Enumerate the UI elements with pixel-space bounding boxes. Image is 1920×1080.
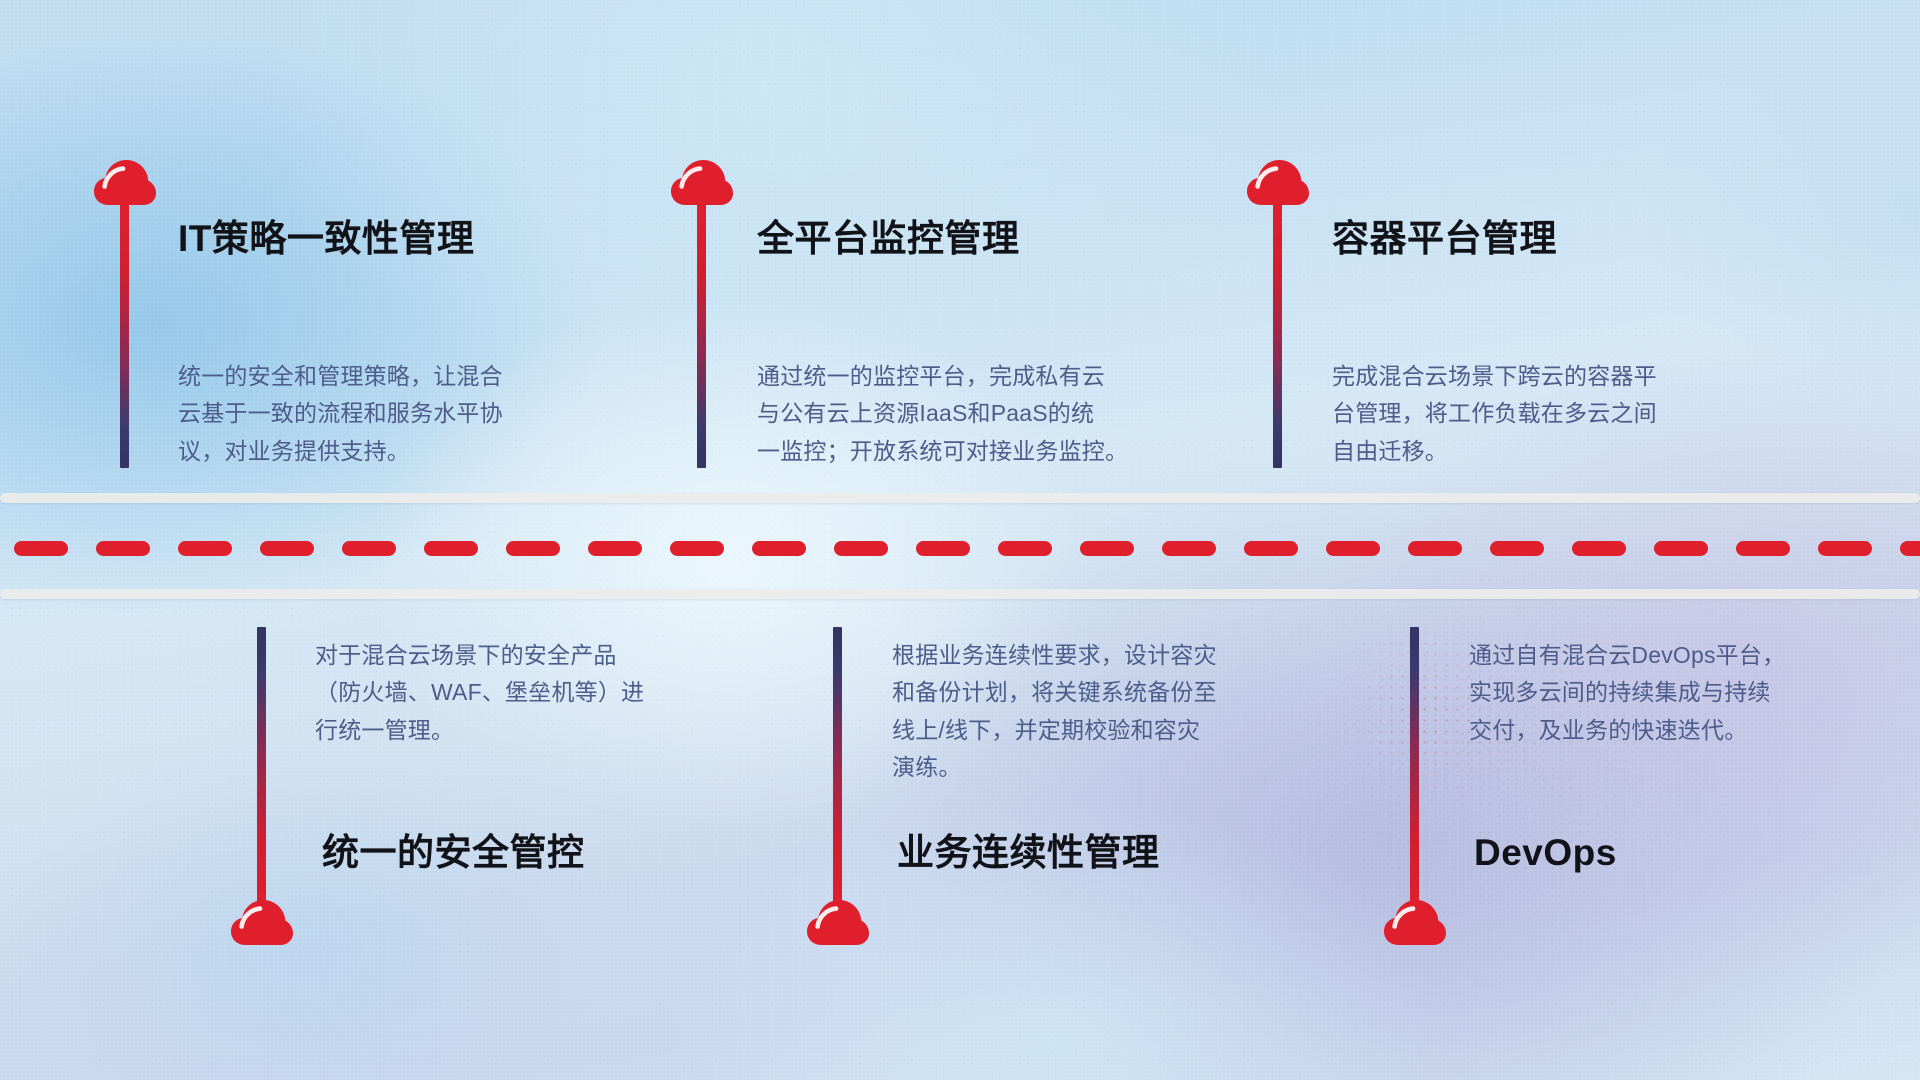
infographic-canvas: IT策略一致性管理 统一的安全和管理策略，让混合 云基于一致的流程和服务水平协 … (0, 0, 1920, 1080)
marker-stem (257, 627, 266, 907)
road-dash-segment (96, 541, 150, 556)
marker-stem (1273, 203, 1282, 468)
road-dash-segment (14, 541, 68, 556)
card-title: 业务连续性管理 (897, 834, 1160, 871)
marker-stem (1410, 627, 1419, 907)
road-dash-segment (1900, 541, 1920, 556)
road-dash-segment (1244, 541, 1298, 556)
road-dash-segment (1080, 541, 1134, 556)
cloud-icon (671, 160, 733, 206)
road-dash-segment (260, 541, 314, 556)
road-edge-line-bottom (0, 589, 1920, 599)
road-dash-segment (1162, 541, 1216, 556)
marker-stem (833, 627, 842, 907)
marker-stem (697, 203, 706, 468)
card-body: 根据业务连续性要求，设计容灾 和备份计划，将关键系统备份至 线上/线下，并定期校… (892, 637, 1342, 786)
road-dash-segment (588, 541, 642, 556)
card-body: 通过自有混合云DevOps平台， 实现多云间的持续集成与持续 交付，及业务的快速… (1469, 637, 1919, 749)
road-dash-segment (834, 541, 888, 556)
road-dash-segment (1490, 541, 1544, 556)
road-dash-segment (506, 541, 560, 556)
cloud-icon (1384, 900, 1446, 946)
card-title: 统一的安全管控 (322, 834, 585, 871)
marker-stem (120, 203, 129, 468)
road-dash-segment (916, 541, 970, 556)
card-title: 容器平台管理 (1332, 220, 1557, 257)
road-dash-segment (424, 541, 478, 556)
card-body: 完成混合云场景下跨云的容器平 台管理，将工作负载在多云之间 自由迁移。 (1332, 358, 1792, 470)
cloud-icon (94, 160, 156, 206)
road-dash-segment (1572, 541, 1626, 556)
card-body: 对于混合云场景下的安全产品 （防火墙、WAF、堡垒机等）进 行统一管理。 (315, 637, 765, 749)
card-body: 通过统一的监控平台，完成私有云 与公有云上资源IaaS和PaaS的统 一监控；开… (757, 358, 1227, 470)
road-dash-segment (752, 541, 806, 556)
road-dash-segment (1326, 541, 1380, 556)
cloud-icon (807, 900, 869, 946)
road-dash-segment (342, 541, 396, 556)
cloud-icon (231, 900, 293, 946)
card-body: 统一的安全和管理策略，让混合 云基于一致的流程和服务水平协 议，对业务提供支持。 (178, 358, 618, 470)
road-dash-segment (670, 541, 724, 556)
card-title: IT策略一致性管理 (178, 220, 474, 257)
road-dash-segment (1408, 541, 1462, 556)
card-title: DevOps (1474, 834, 1617, 871)
road-edge-line-top (0, 493, 1920, 503)
cloud-icon (1247, 160, 1309, 206)
road-dash-segment (1654, 541, 1708, 556)
road-dash-segment (1818, 541, 1872, 556)
road-dash-segment (178, 541, 232, 556)
road-dash-segment (1736, 541, 1790, 556)
road-dash-segment (998, 541, 1052, 556)
road-center-dashed-line (0, 541, 1920, 556)
card-title: 全平台监控管理 (757, 220, 1020, 257)
